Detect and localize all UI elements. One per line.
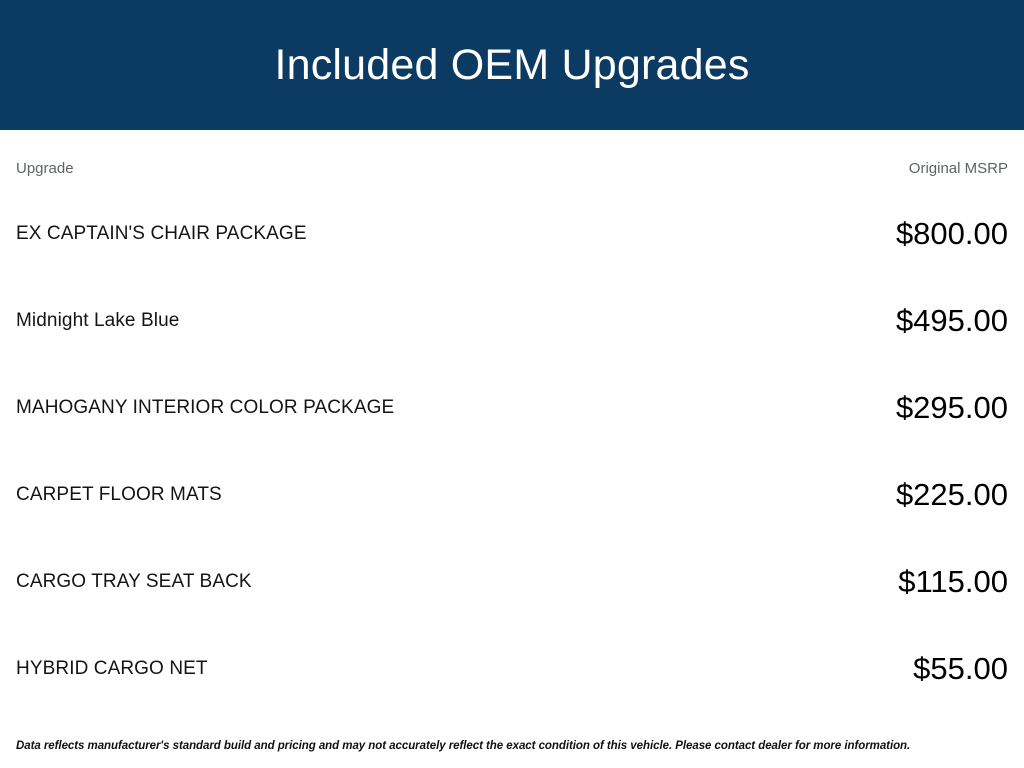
- table-row: CARGO TRAY SEAT BACK $115.00: [16, 539, 1008, 626]
- page-title: Included OEM Upgrades: [274, 44, 749, 87]
- upgrade-name: EX CAPTAIN'S CHAIR PACKAGE: [16, 224, 307, 245]
- table-row: Midnight Lake Blue $495.00: [16, 278, 1008, 365]
- footer-disclaimer: Data reflects manufacturer's standard bu…: [0, 739, 1024, 768]
- column-header-upgrade: Upgrade: [16, 161, 74, 176]
- upgrade-price: $115.00: [898, 565, 1008, 599]
- upgrades-row-list: EX CAPTAIN'S CHAIR PACKAGE $800.00 Midni…: [16, 191, 1008, 713]
- table-row: CARPET FLOOR MATS $225.00: [16, 452, 1008, 539]
- upgrade-name: Midnight Lake Blue: [16, 311, 179, 332]
- upgrade-price: $295.00: [896, 391, 1008, 425]
- upgrade-price: $495.00: [896, 304, 1008, 338]
- oem-upgrades-page: Included OEM Upgrades Upgrade Original M…: [0, 0, 1024, 768]
- upgrade-name: CARGO TRAY SEAT BACK: [16, 572, 252, 593]
- upgrade-name: CARPET FLOOR MATS: [16, 485, 222, 506]
- disclaimer-text: Data reflects manufacturer's standard bu…: [16, 739, 1008, 754]
- page-header-banner: Included OEM Upgrades: [0, 0, 1024, 130]
- upgrade-price: $800.00: [896, 217, 1008, 251]
- table-column-headers: Upgrade Original MSRP: [16, 145, 1008, 191]
- table-row: HYBRID CARGO NET $55.00: [16, 626, 1008, 713]
- table-row: MAHOGANY INTERIOR COLOR PACKAGE $295.00: [16, 365, 1008, 452]
- upgrade-price: $55.00: [913, 652, 1008, 686]
- upgrade-name: MAHOGANY INTERIOR COLOR PACKAGE: [16, 398, 394, 419]
- column-header-original-msrp: Original MSRP: [909, 161, 1008, 176]
- upgrade-price: $225.00: [896, 478, 1008, 512]
- upgrades-table: Upgrade Original MSRP EX CAPTAIN'S CHAIR…: [0, 130, 1024, 739]
- table-row: EX CAPTAIN'S CHAIR PACKAGE $800.00: [16, 191, 1008, 278]
- upgrade-name: HYBRID CARGO NET: [16, 659, 208, 680]
